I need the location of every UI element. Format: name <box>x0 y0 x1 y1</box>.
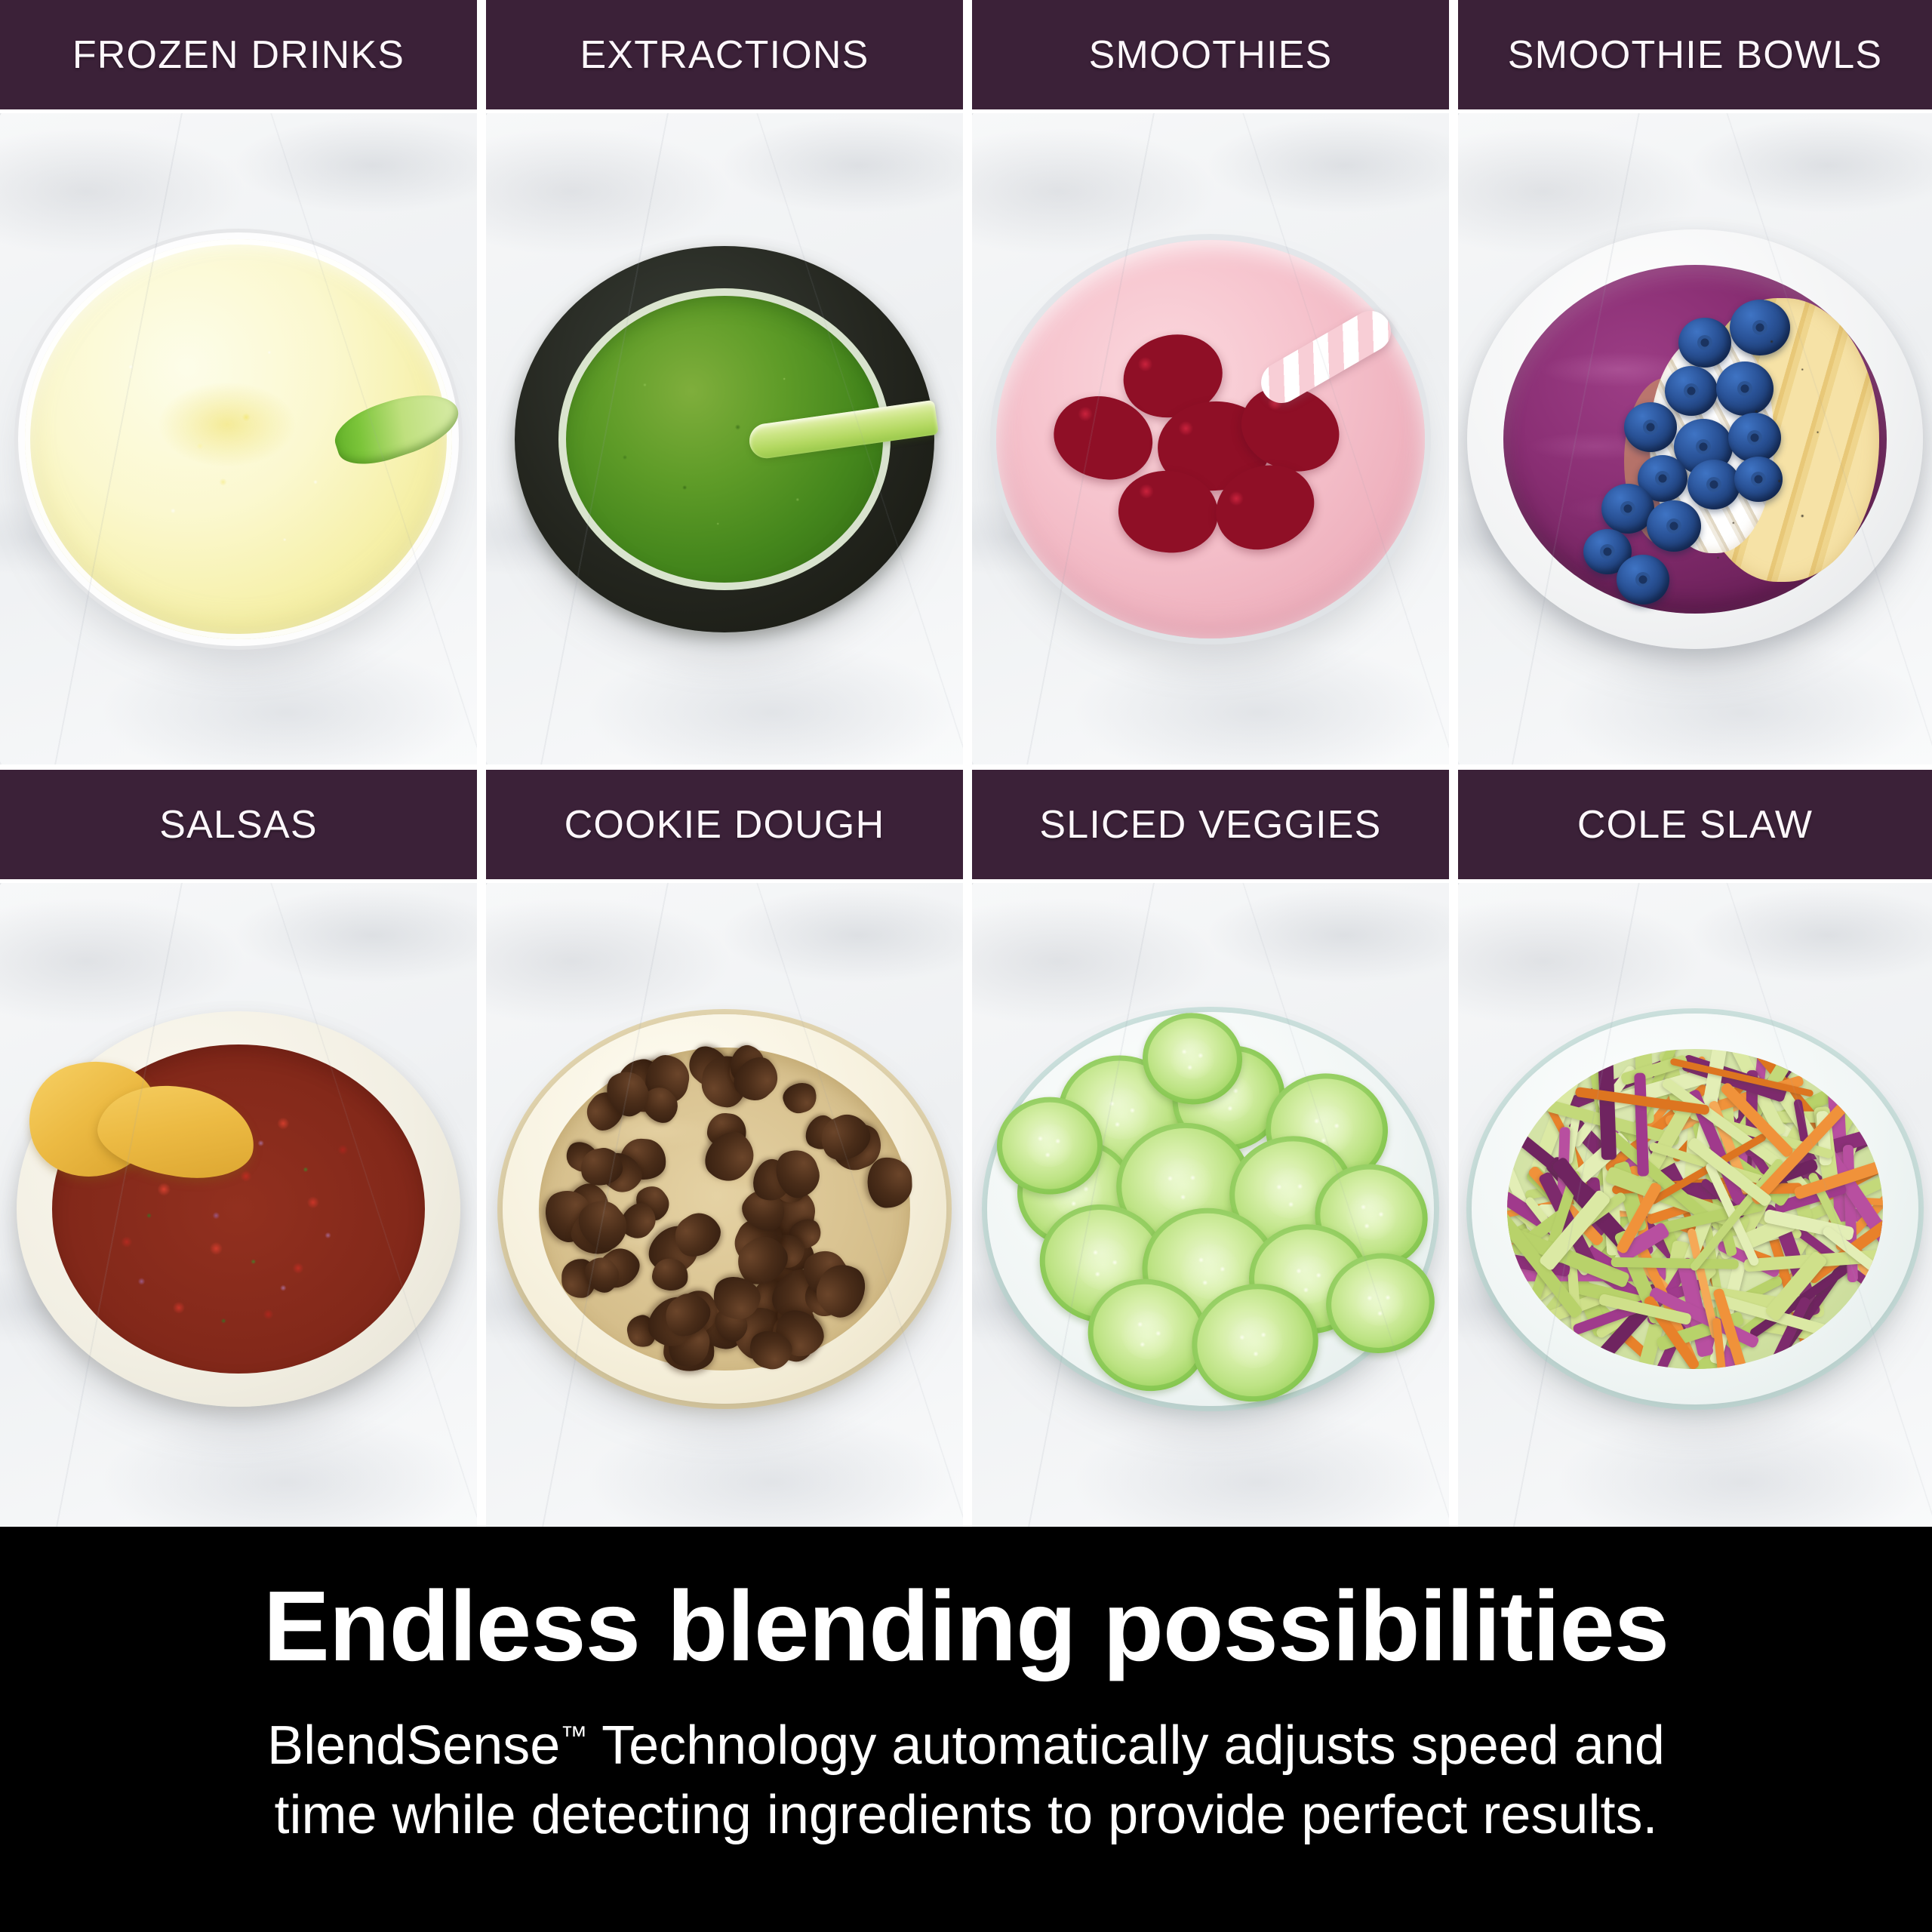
chocolate-chip <box>866 1156 912 1208</box>
category-cell-cookie-dough[interactable]: COOKIE DOUGH <box>486 770 963 1534</box>
category-label-text: SMOOTHIES <box>1089 32 1333 78</box>
category-cell-frozen-drinks[interactable]: FROZEN DRINKS <box>0 0 477 764</box>
cookie-dough-photo <box>486 883 963 1534</box>
blueberry <box>1734 457 1783 502</box>
footer-message-block: Endless blending possibilities BlendSens… <box>0 1527 1932 1932</box>
body-copy-line-2: time while detecting ingredients to prov… <box>267 1780 1665 1850</box>
glass-bowl <box>1472 1014 1918 1404</box>
category-label-bar: SMOOTHIES <box>972 0 1449 109</box>
cream-bowl <box>17 1011 460 1407</box>
striped-straw <box>1254 303 1398 411</box>
category-cell-cole-slaw[interactable]: COLE SLAW <box>1458 770 1932 1534</box>
glass-bowl <box>987 1012 1434 1406</box>
category-label-text: FROZEN DRINKS <box>72 32 405 78</box>
blueberry <box>1678 318 1731 368</box>
brand-name: BlendSense <box>267 1715 560 1776</box>
category-label-bar: SLICED VEGGIES <box>972 770 1449 879</box>
blueberry <box>1665 366 1718 416</box>
cookie-dough <box>539 1048 910 1371</box>
smoothie-photo <box>972 113 1449 764</box>
category-label-bar: SALSAS <box>0 770 477 879</box>
category-label-bar: COLE SLAW <box>1458 770 1932 879</box>
cucumber-slice <box>997 1097 1103 1195</box>
salsa-photo <box>0 883 477 1534</box>
headline: Endless blending possibilities <box>263 1577 1669 1676</box>
category-label-text: EXTRACTIONS <box>580 32 869 78</box>
category-cell-sliced-veggies[interactable]: SLICED VEGGIES <box>972 770 1449 1534</box>
category-label-bar: EXTRACTIONS <box>486 0 963 109</box>
body-copy: BlendSense™ Technology automatically adj… <box>267 1711 1665 1850</box>
category-cell-extractions[interactable]: EXTRACTIONS <box>486 0 963 764</box>
category-label-text: COLE SLAW <box>1577 802 1813 848</box>
blueberry <box>1647 500 1701 552</box>
category-label-text: SLICED VEGGIES <box>1039 802 1381 848</box>
category-label-bar: COOKIE DOUGH <box>486 770 963 879</box>
acai-base <box>1503 265 1887 614</box>
blueberry <box>1617 555 1669 605</box>
blueberry <box>1716 361 1774 416</box>
cole-slaw-photo <box>1458 883 1932 1534</box>
blueberry <box>1687 460 1740 509</box>
blueberry <box>1624 402 1677 452</box>
frozen-drink-photo <box>0 113 477 764</box>
category-label-text: COOKIE DOUGH <box>565 802 885 848</box>
blend-category-grid: FROZEN DRINKS EXTRACTIONS <box>0 0 1932 1527</box>
slaw-mound <box>1507 1049 1883 1369</box>
category-cell-smoothies[interactable]: SMOOTHIES <box>972 0 1449 764</box>
blueberry <box>1728 413 1781 463</box>
chocolate-chip <box>780 1080 820 1118</box>
smoothie-glass <box>996 240 1425 638</box>
sliced-veggies-photo <box>972 883 1449 1534</box>
body-copy-line-1-rest: Technology automatically adjusts speed a… <box>587 1715 1665 1776</box>
category-label-bar: FROZEN DRINKS <box>0 0 477 109</box>
category-label-text: SALSAS <box>159 802 318 848</box>
trademark-symbol: ™ <box>560 1720 587 1751</box>
product-feature-panel: FROZEN DRINKS EXTRACTIONS <box>0 0 1932 1932</box>
extraction-photo <box>486 113 963 764</box>
category-cell-salsas[interactable]: SALSAS <box>0 770 477 1534</box>
glass-bowl <box>503 1014 946 1404</box>
category-cell-smoothie-bowls[interactable]: SMOOTHIE BOWLS <box>1458 0 1932 764</box>
category-label-bar: SMOOTHIE BOWLS <box>1458 0 1932 109</box>
body-copy-line-1: BlendSense™ Technology automatically adj… <box>267 1711 1665 1780</box>
category-label-text: SMOOTHIE BOWLS <box>1508 32 1882 78</box>
smoothie-bowl-photo <box>1458 113 1932 764</box>
white-bowl <box>1467 229 1923 649</box>
blueberry <box>1730 300 1790 355</box>
